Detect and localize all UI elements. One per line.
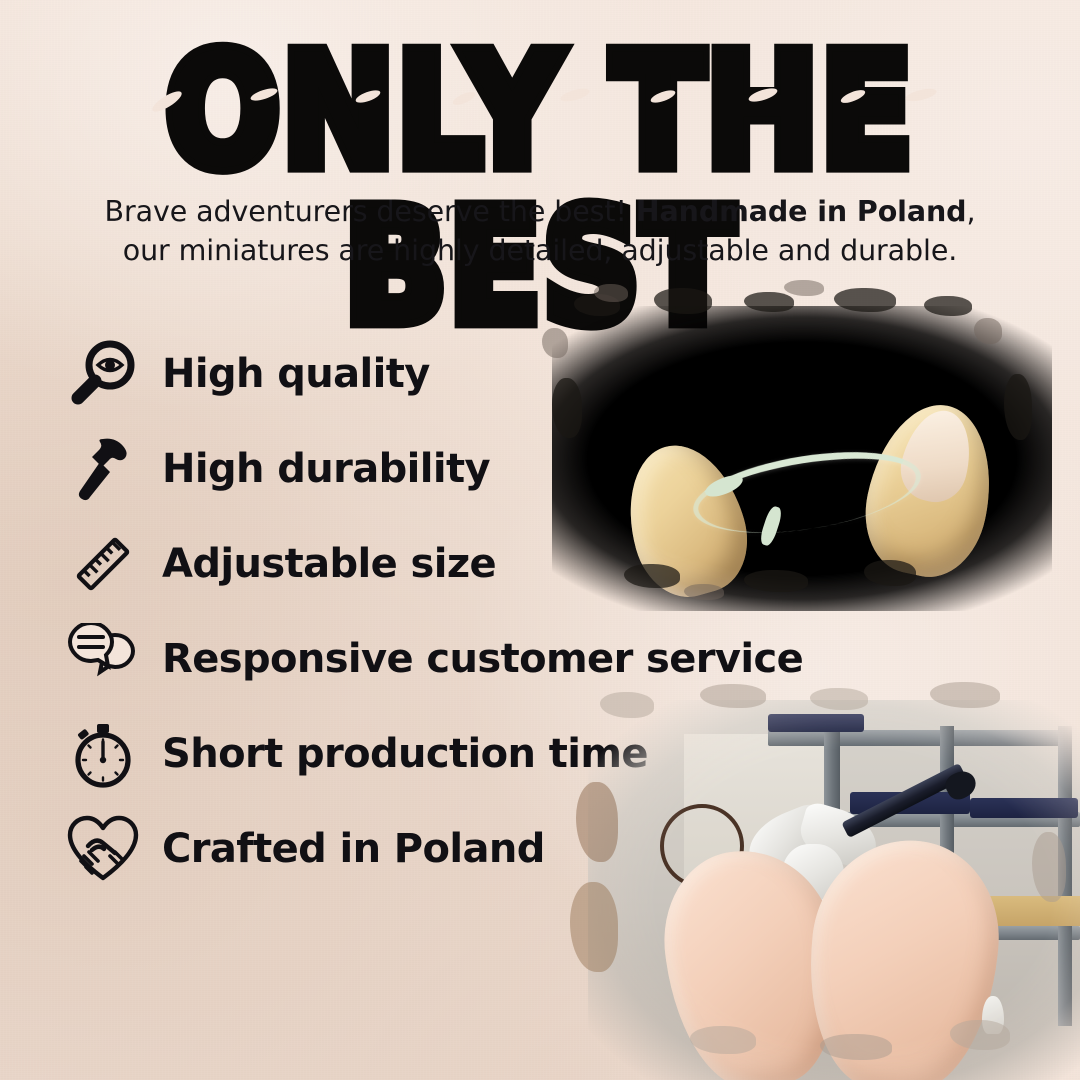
magnifier-eye-icon (62, 333, 144, 415)
small-miniature-on-desk (982, 996, 1004, 1034)
hammer-icon (62, 428, 144, 510)
flexible-miniature-photo-image (552, 306, 1052, 611)
feature-label: High quality (162, 351, 430, 397)
subtitle-highlight: Handmade in Poland (636, 195, 967, 228)
subtitle-line-1: Brave adventurers deserve the best! Hand… (0, 192, 1080, 231)
headline-text: ONLY THE BEST (0, 34, 1080, 346)
promo-poster: ONLY THE BEST Brave adventurers deserve … (0, 0, 1080, 1080)
feature-label: High durability (162, 446, 490, 492)
subtitle-line-1-tail: , (966, 195, 975, 228)
feature-label: Adjustable size (162, 541, 496, 587)
subtitle-line-1-lead: Brave adventurers deserve the best! (105, 195, 636, 228)
feature-item-responsive-customer-service: Responsive customer service (62, 611, 782, 706)
flexible-miniature-photo (552, 306, 1052, 611)
ruler-icon (62, 523, 144, 605)
speech-bubbles-icon (62, 618, 144, 700)
subtitle: Brave adventurers deserve the best! Hand… (0, 192, 1080, 271)
stopwatch-icon (62, 713, 144, 795)
feature-label: Crafted in Poland (162, 826, 545, 872)
handshake-heart-icon (62, 808, 144, 890)
workshop-painting-photo-image (588, 700, 1080, 1080)
subtitle-line-2: our miniatures are highly detailed, adju… (0, 231, 1080, 270)
workshop-painting-photo (588, 700, 1080, 1080)
feature-label: Short production time (162, 731, 648, 777)
feature-label: Responsive customer service (162, 636, 803, 682)
